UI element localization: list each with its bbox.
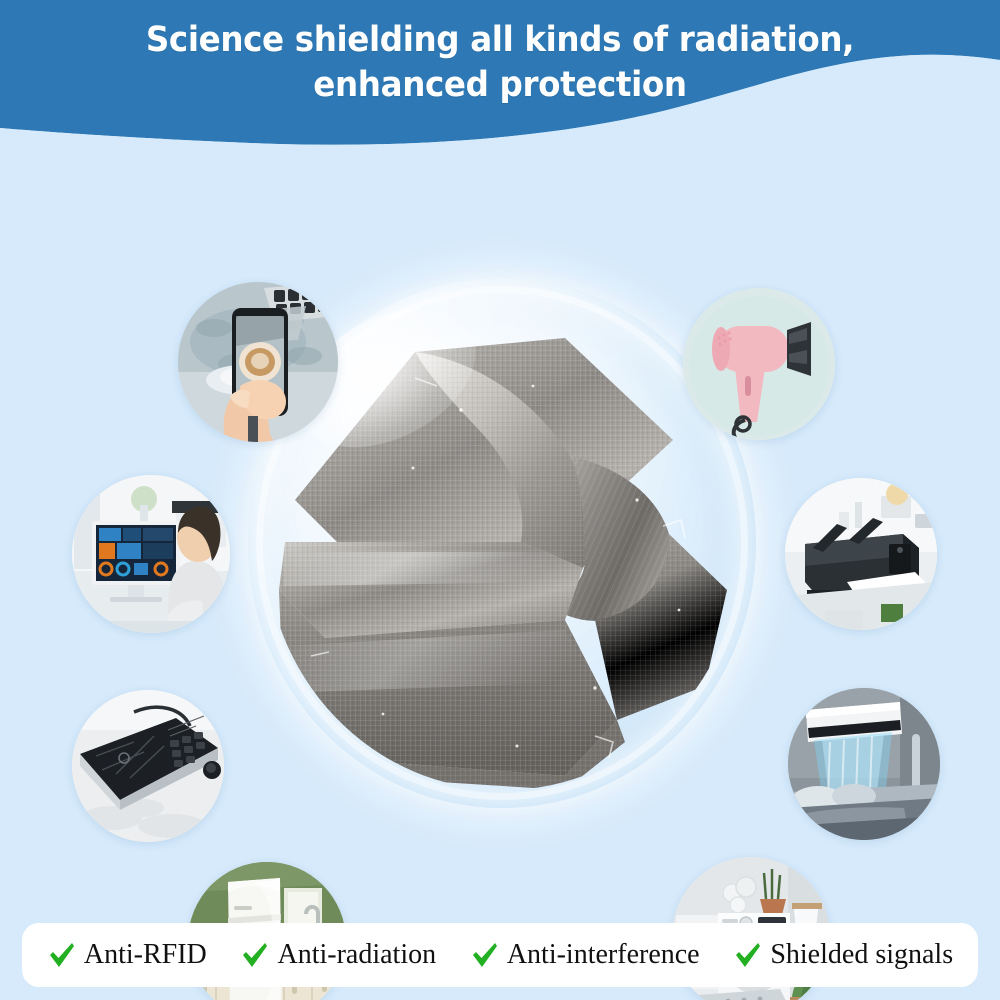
check-icon [733, 940, 763, 970]
illustration-stage [0, 130, 1000, 920]
feature-item-anti-interference: Anti-interference [470, 940, 700, 970]
page-title-line-2: enhanced protection [35, 63, 965, 108]
thumbnail-smartphone-photographing-coffee [178, 282, 338, 442]
feature-item-anti-radiation: Anti-radiation [240, 940, 436, 970]
thumbnail-hair-dryer [683, 288, 835, 440]
feature-item-anti-rfid: Anti-RFID [47, 940, 207, 970]
thumbnail-air-conditioner [788, 688, 940, 840]
page-title-line-1: Science shielding all kinds of radiation… [35, 18, 965, 63]
thumbnail-inkjet-printer [785, 478, 937, 630]
thumbnail-desktop-computer-monitor [72, 475, 230, 633]
page-title: Science shielding all kinds of radiation… [35, 18, 965, 108]
feature-item-shielded-signals: Shielded signals [733, 940, 953, 970]
check-icon [240, 940, 270, 970]
feature-label: Anti-interference [507, 941, 700, 969]
thumbnail-induction-cooktop [72, 690, 224, 842]
feature-label: Anti-radiation [277, 941, 436, 969]
product-marketing-image: Science shielding all kinds of radiation… [0, 0, 1000, 1000]
check-icon [470, 940, 500, 970]
feature-bar: Anti-RFID Anti-radiation Anti-interferen… [22, 923, 978, 987]
feature-label: Shielded signals [770, 941, 953, 969]
check-icon [47, 940, 77, 970]
feature-label: Anti-RFID [84, 941, 207, 969]
